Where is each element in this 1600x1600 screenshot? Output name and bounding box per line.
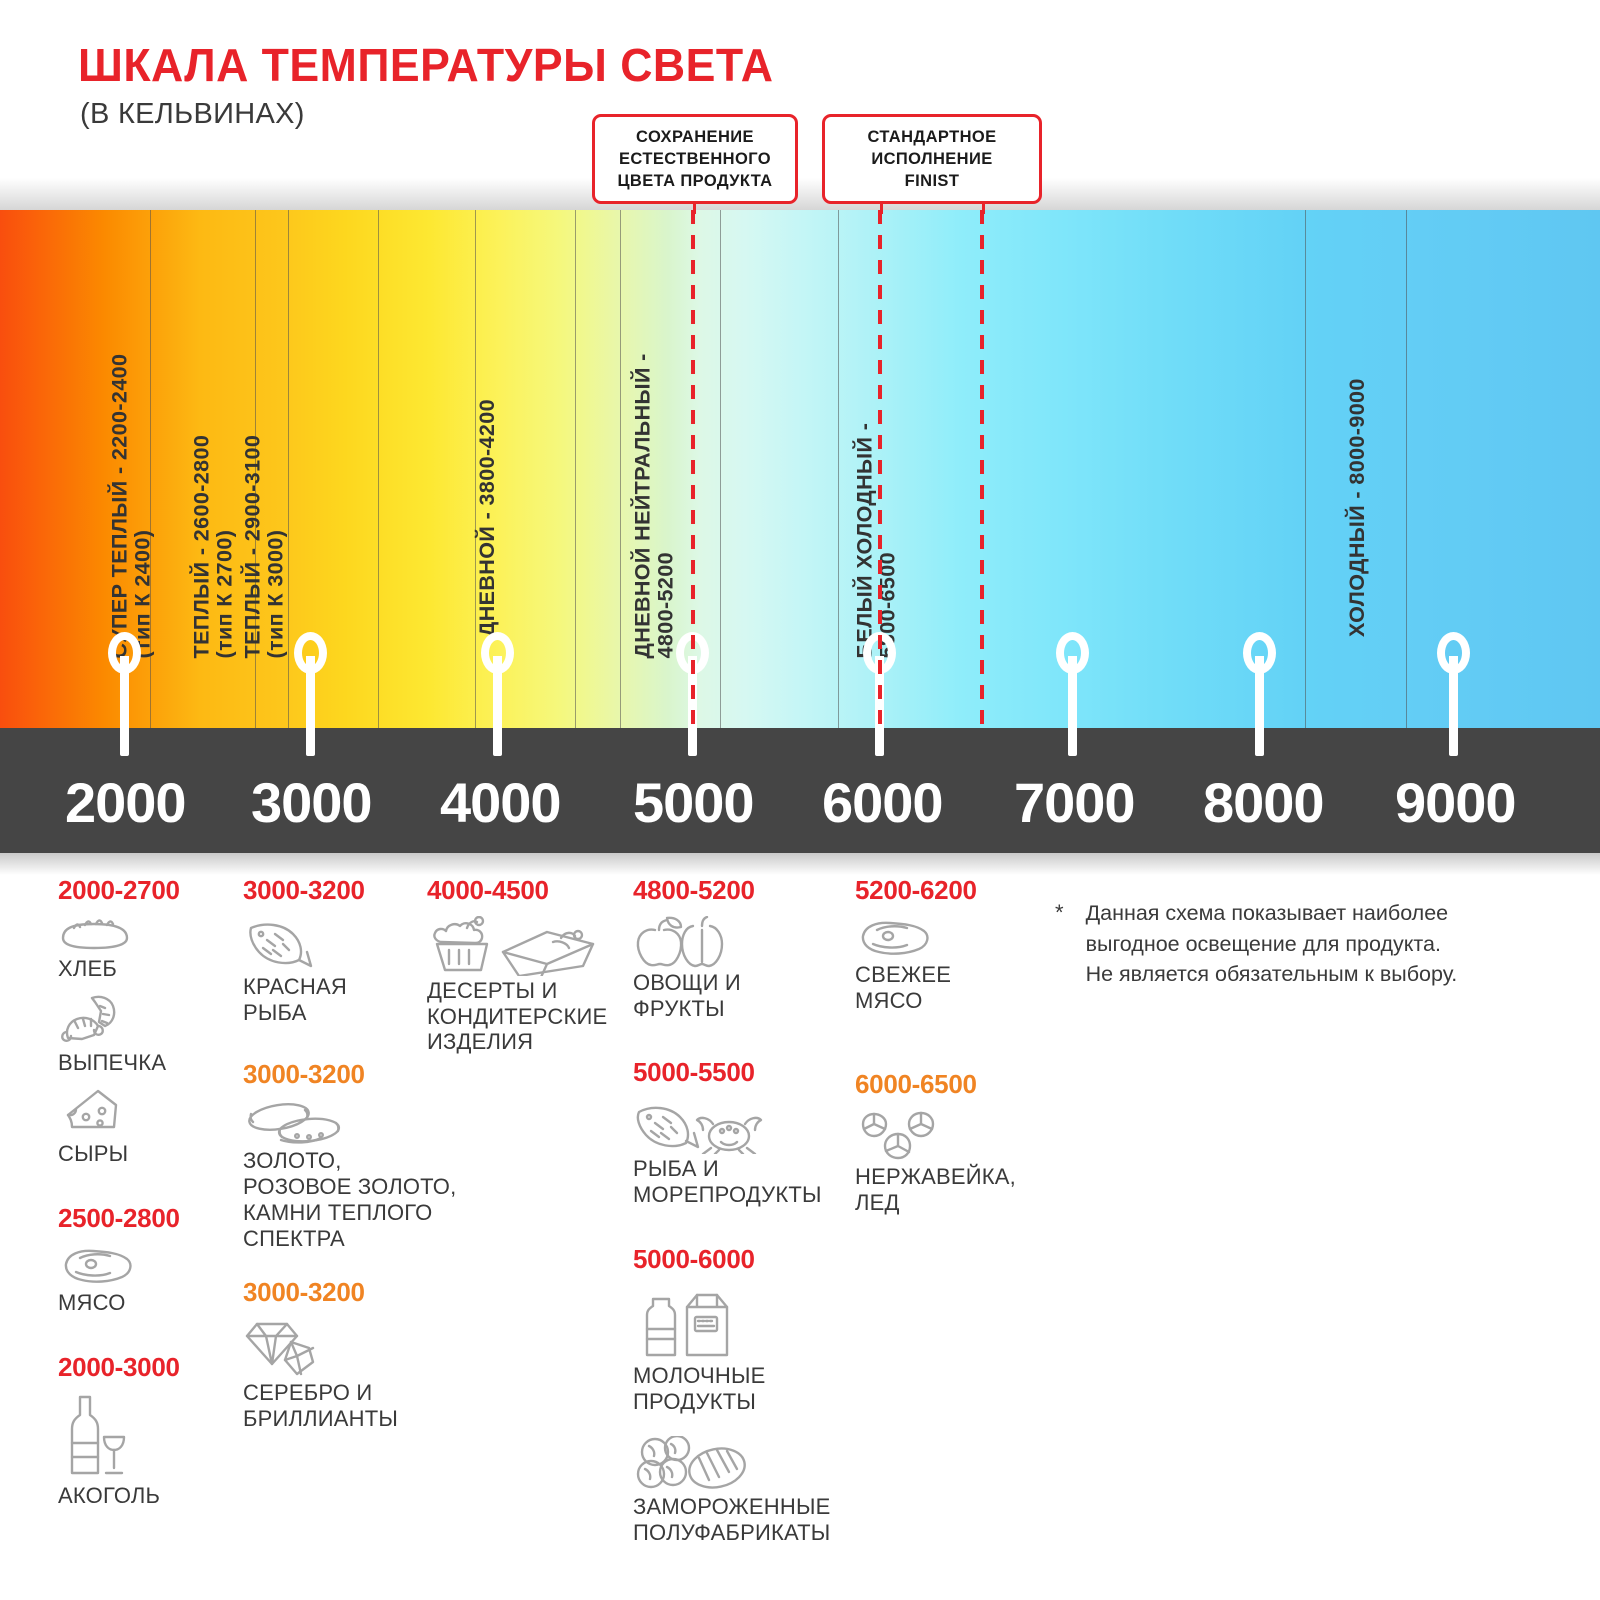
legend-group: 5000-6000 МОЛОЧНЫЕ ПРОДУКТЫ: [633, 1244, 863, 1546]
footnote-asterisk: *: [1055, 898, 1064, 990]
legend-item-label: МОЛОЧНЫЕ ПРОДУКТЫ: [633, 1363, 863, 1414]
ice-cubes-icon: [855, 1110, 1040, 1162]
finist-range-line-right: [980, 210, 984, 728]
legend-item-seafood: РЫБА И МОРЕПРОДУКТЫ: [633, 1098, 863, 1207]
footnote-line-1: Данная схема показывает наиболее: [1086, 898, 1458, 929]
legend-item-label: ПОЛУФАБРИКАТЫ: [633, 1520, 863, 1546]
band-label-line-1: ДНЕВНОЙ НЕЙТРАЛЬНЫЙ -: [632, 353, 655, 658]
band-label-line-2: (тип К 2700): [214, 435, 237, 659]
band-label-line-1: СУПЕР ТЕПЛЫЙ - 2200-2400: [109, 354, 132, 659]
legend-range: 4800-5200: [633, 875, 863, 906]
legend-item-diamonds: СЕРЕБРО И БРИЛЛИАНТЫ: [243, 1318, 493, 1431]
frozen-icon: [633, 1436, 863, 1492]
legend-item-bread: ХЛЕБ: [58, 916, 223, 982]
legend-item-label: ОВОЩИ И: [633, 970, 863, 996]
seafood-icon: [633, 1098, 863, 1154]
finist-range-line-left: [878, 210, 882, 728]
legend-range: 6000-6500: [855, 1069, 1040, 1100]
band-label-white-cold: БЕЛЫЙ ХОЛОДНЫЙ - 5800-6500: [854, 423, 900, 659]
natural-color-marker-line: [691, 210, 695, 728]
page-subtitle: (В КЕЛЬВИНАХ): [80, 98, 305, 131]
cheese-icon: [58, 1085, 223, 1139]
band-label-line-1: ХОЛОДНЫЙ - 8000-9000: [1345, 378, 1370, 637]
legend-range: 2000-3000: [58, 1352, 223, 1383]
legend-item-label: СПЕКТРА: [243, 1226, 493, 1252]
callout-line-2: ИСПОЛНЕНИЕ: [833, 149, 1031, 171]
legend-group: 5000-5500 РЫБ: [633, 1057, 863, 1207]
natural-color-callout: СОХРАНЕНИЕ ЕСТЕСТВЕННОГО ЦВЕТА ПРОДУКТА: [592, 114, 798, 204]
legend-item-label: РОЗОВОЕ ЗОЛОТО,: [243, 1174, 493, 1200]
legend-range: 5000-5500: [633, 1057, 863, 1088]
scale-bottom-shadow: [0, 853, 1600, 875]
band-label-super-warm: СУПЕР ТЕПЛЫЙ - 2200-2400 (тип К 2400): [109, 354, 155, 659]
legend-item-label: РЫБА И: [633, 1156, 863, 1182]
band-divider: [720, 210, 721, 728]
legend-item-label: КАМНИ ТЕПЛОГО: [243, 1200, 493, 1226]
scale-tick-9000: 9000: [1395, 770, 1516, 835]
milk-icon: [633, 1285, 863, 1361]
legend-item-desserts: ДЕСЕРТЫ И КОНДИТЕРСКИЕ ИЗДЕЛИЯ: [427, 916, 622, 1055]
legend-range: 5200-6200: [855, 875, 1040, 906]
legend-column-1: 2000-2700 ХЛЕБ: [58, 875, 223, 1509]
legend-item-cheese: СЫРЫ: [58, 1085, 223, 1167]
callout-line-1: СОХРАНЕНИЕ: [603, 127, 787, 149]
legend-range: 3000-3200: [243, 1277, 493, 1308]
callout-line-1: СТАНДАРТНОЕ: [833, 127, 1031, 149]
band-divider: [620, 210, 621, 728]
legend-range: 2000-2700: [58, 875, 223, 906]
croissant-icon: [58, 992, 223, 1048]
legend-item-alcohol: АКОГОЛЬ: [58, 1393, 223, 1509]
legend-column-3: 4000-4500 ДЕС: [427, 875, 622, 1055]
alcohol-icon: [58, 1393, 223, 1481]
legend-group: 3000-3200 ЗОЛОТО, РОЗОВОЕ ЗОЛОТО,: [243, 1059, 493, 1251]
legend-item-label: МОРЕПРОДУКТЫ: [633, 1182, 863, 1208]
legend-item-label: АКОГОЛЬ: [58, 1483, 223, 1509]
legend-item-label: ЗОЛОТО,: [243, 1148, 493, 1174]
legend-range: 3000-3200: [243, 1059, 493, 1090]
legend-range: 2500-2800: [58, 1203, 223, 1234]
legend-item-label: ЗАМОРОЖЕННЫЕ: [633, 1494, 863, 1520]
band-label-cold: ХОЛОДНЫЙ - 8000-9000: [1345, 378, 1370, 637]
scale-tick-5000: 5000: [633, 770, 754, 835]
band-label-line-2: 4800-5200: [655, 353, 678, 658]
band-label-daylight-neutral: ДНЕВНОЙ НЕЙТРАЛЬНЫЙ - 4800-5200: [632, 353, 678, 658]
band-label-line-1: ТЕПЛЫЙ - 2900-3100: [242, 435, 265, 659]
legend-group: 4000-4500 ДЕС: [427, 875, 622, 1055]
band-label-line-2: (тип К 2400): [132, 354, 155, 659]
legend-range: 5000-6000: [633, 1244, 863, 1275]
band-divider: [1406, 210, 1407, 728]
band-label-line-1: ДНЕВНОЙ - 3800-4200: [475, 399, 500, 637]
legend-item-label: СЕРЕБРО И: [243, 1380, 493, 1406]
legend-item-label: СЫРЫ: [58, 1141, 223, 1167]
legend-item-label: ФРУКТЫ: [633, 996, 863, 1022]
legend-item-label: БРИЛЛИАНТЫ: [243, 1406, 493, 1432]
finist-standard-callout: СТАНДАРТНОЕ ИСПОЛНЕНИЕ FINIST: [822, 114, 1042, 204]
scale-tick-4000: 4000: [440, 770, 561, 835]
dessert-icon: [427, 916, 622, 976]
footnote-line-3: Не является обязательным к выбору.: [1086, 959, 1458, 990]
legend-item-label: СВЕЖЕЕ: [855, 962, 1040, 988]
page-title: ШКАЛА ТЕМПЕРАТУРЫ СВЕТА: [78, 38, 774, 92]
band-divider: [378, 210, 379, 728]
footnote: * Данная схема показывает наиболее выгод…: [1055, 898, 1560, 990]
band-label-line-2: (тип К 3000): [265, 435, 288, 659]
band-divider: [575, 210, 576, 728]
legend-item-label: ВЫПЕЧКА: [58, 1050, 223, 1076]
legend-group: 5200-6200 СВЕЖЕЕ МЯСО: [855, 875, 1040, 1013]
band-label-daylight: ДНЕВНОЙ - 3800-4200: [475, 399, 500, 637]
legend-group: 6000-6500 НЕРЖАВЕЙКА, ЛЕД: [855, 1069, 1040, 1215]
legend-group: 2000-2700 ХЛЕБ: [58, 875, 223, 1167]
legend-item-label: МЯСО: [58, 1290, 223, 1316]
callout-line-3: FINIST: [833, 171, 1031, 193]
scale-tick-8000: 8000: [1203, 770, 1324, 835]
fruit-veg-icon: [633, 916, 863, 968]
band-label-warm-2700: ТЕПЛЫЙ - 2600-2800 (тип К 2700): [191, 435, 237, 659]
kelvin-scale-bar: [0, 728, 1600, 853]
scale-tick-6000: 6000: [822, 770, 943, 835]
band-divider: [288, 210, 289, 728]
legend-item-label: ХЛЕБ: [58, 956, 223, 982]
band-top-shadow: [0, 178, 1600, 210]
scale-tick-7000: 7000: [1014, 770, 1135, 835]
band-label-warm-3000: ТЕПЛЫЙ - 2900-3100 (тип К 3000): [242, 435, 288, 659]
legend-item-label: МЯСО: [855, 988, 1040, 1014]
legend-item-gold: ЗОЛОТО, РОЗОВОЕ ЗОЛОТО, КАМНИ ТЕПЛОГО СП…: [243, 1100, 493, 1251]
legend-group: 2500-2800 МЯСО: [58, 1203, 223, 1316]
scale-tick-2000: 2000: [65, 770, 186, 835]
legend-range: 4000-4500: [427, 875, 622, 906]
legend-column-4: 4800-5200 ОВОЩИ И ФРУКТЫ: [633, 875, 863, 1546]
callout-line-3: ЦВЕТА ПРОДУКТА: [603, 171, 787, 193]
legend-item-pastry: ВЫПЕЧКА: [58, 992, 223, 1076]
legend-item-fresh-meat: СВЕЖЕЕ МЯСО: [855, 916, 1040, 1013]
steak-icon: [58, 1244, 223, 1288]
legend-column-5: 5200-6200 СВЕЖЕЕ МЯСО 6000-6500: [855, 875, 1040, 1216]
footnote-text: Данная схема показывает наиболее выгодно…: [1086, 898, 1458, 990]
legend-item-dairy: МОЛОЧНЫЕ ПРОДУКТЫ: [633, 1285, 863, 1414]
footnote-line-2: выгодное освещение для продукта.: [1086, 929, 1458, 960]
scale-tick-3000: 3000: [251, 770, 372, 835]
legend-item-stainless-ice: НЕРЖАВЕЙКА, ЛЕД: [855, 1110, 1040, 1215]
callout-line-2: ЕСТЕСТВЕННОГО: [603, 149, 787, 171]
legend-item-label: ИЗДЕЛИЯ: [427, 1029, 622, 1055]
band-divider: [1305, 210, 1306, 728]
legend-item-meat: МЯСО: [58, 1244, 223, 1316]
legend-item-label: ДЕСЕРТЫ И: [427, 978, 622, 1004]
legend-item-fruit-veg: ОВОЩИ И ФРУКТЫ: [633, 916, 863, 1021]
diamond-icon: [243, 1318, 493, 1378]
band-divider: [838, 210, 839, 728]
legend-item-frozen: ЗАМОРОЖЕННЫЕ ПОЛУФАБРИКАТЫ: [633, 1436, 863, 1545]
rings-icon: [243, 1100, 493, 1146]
bread-icon: [58, 916, 223, 954]
legend-group: 3000-3200 СЕРЕБРО И БРИЛЛИАНТЫ: [243, 1277, 493, 1431]
legend-item-label: КОНДИТЕРСКИЕ: [427, 1004, 622, 1030]
legend-item-label: ЛЕД: [855, 1190, 1040, 1216]
band-label-line-1: БЕЛЫЙ ХОЛОДНЫЙ -: [854, 423, 877, 659]
infographic-page: ШКАЛА ТЕМПЕРАТУРЫ СВЕТА (В КЕЛЬВИНАХ) СО…: [0, 0, 1600, 1600]
legend-group: 2000-3000 АКОГОЛЬ: [58, 1352, 223, 1509]
legend-group: 4800-5200 ОВОЩИ И ФРУКТЫ: [633, 875, 863, 1021]
band-label-line-1: ТЕПЛЫЙ - 2600-2800: [191, 435, 214, 659]
legend-item-label: НЕРЖАВЕЙКА,: [855, 1164, 1040, 1190]
fresh-meat-icon: [855, 916, 1040, 960]
